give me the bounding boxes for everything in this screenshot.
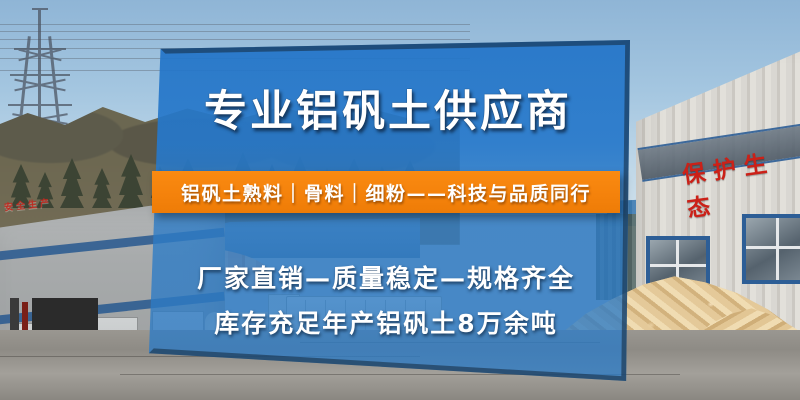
banner-subline-2: 库存充足年产铝矾土8万余吨 <box>150 304 622 340</box>
banner-image: 安全生产 保护 <box>0 0 800 400</box>
banner-text-block: 专业铝矾土供应商 铝矾土熟料｜骨料｜细粉——科技与品质同行 厂家直销—质量稳定—… <box>0 0 800 400</box>
orange-ribbon: 铝矾土熟料｜骨料｜细粉——科技与品质同行 <box>152 171 620 213</box>
ribbon-text: 铝矾土熟料｜骨料｜细粉——科技与品质同行 <box>181 179 591 206</box>
banner-subline-1: 厂家直销—质量稳定—规格齐全 <box>150 259 622 295</box>
banner-headline: 专业铝矾土供应商 <box>150 84 626 140</box>
